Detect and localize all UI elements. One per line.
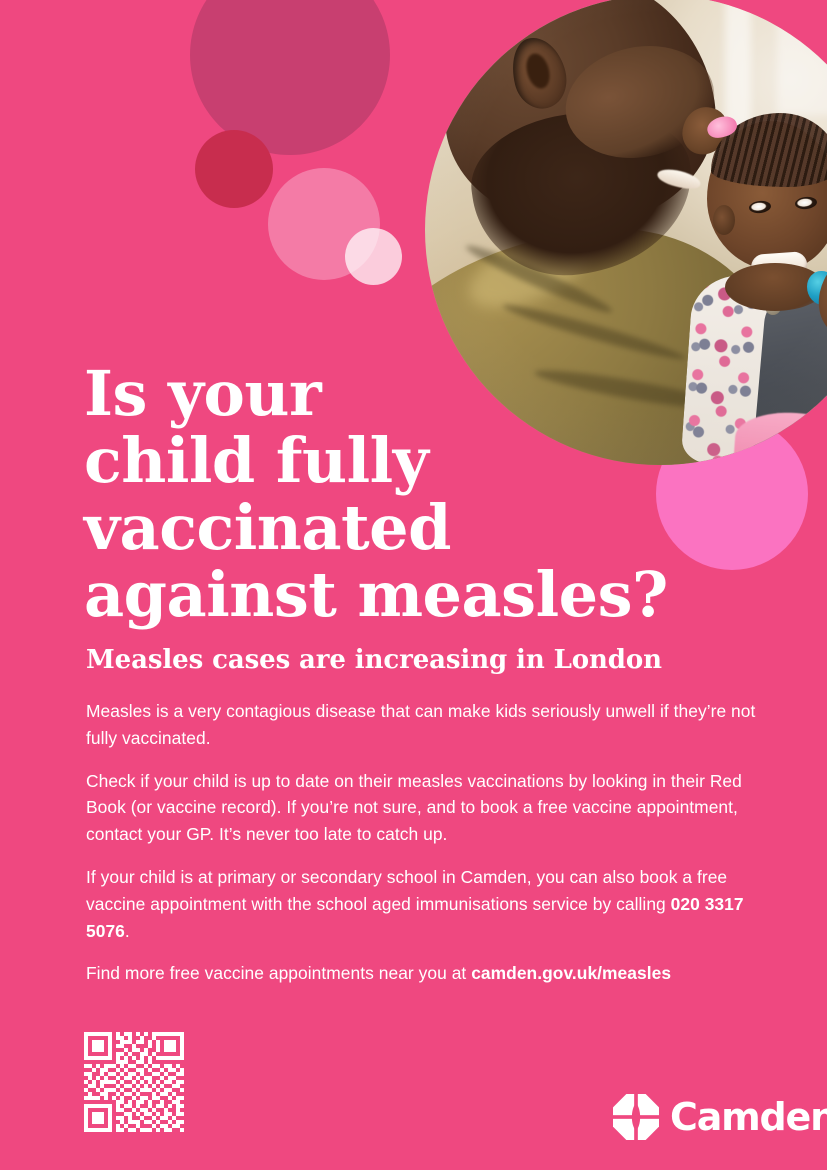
subheading: Measles cases are increasing in London — [86, 644, 746, 676]
body-text: Check if your child is up to date on the… — [86, 771, 742, 845]
decorative-circle-pale-white — [345, 228, 402, 285]
body-text: Find more free vaccine appointments near… — [86, 963, 471, 983]
child-ear — [713, 205, 735, 235]
body-copy: Measles is a very contagious disease tha… — [86, 698, 762, 987]
body-paragraph: Check if your child is up to date on the… — [86, 768, 762, 848]
window-light-icon — [777, 0, 827, 115]
body-text: . — [125, 921, 130, 941]
body-text: Measles is a very contagious disease tha… — [86, 701, 755, 748]
emphasised-text: camden.gov.uk/measles — [471, 963, 671, 983]
body-paragraph: If your child is at primary or secondary… — [86, 864, 762, 944]
page-title: Is your child fully vaccinated against m… — [84, 360, 704, 628]
camden-logo: Camden — [613, 1094, 827, 1140]
camden-wordmark: Camden — [670, 1098, 827, 1136]
body-paragraph: Find more free vaccine appointments near… — [86, 960, 762, 987]
camden-octagon-mark — [613, 1094, 659, 1140]
decorative-circle-crimson — [195, 130, 273, 208]
qr-code[interactable] — [84, 1032, 184, 1132]
body-text: If your child is at primary or secondary… — [86, 867, 727, 914]
poster-canvas: Is your child fully vaccinated against m… — [0, 0, 827, 1170]
body-paragraph: Measles is a very contagious disease tha… — [86, 698, 762, 752]
